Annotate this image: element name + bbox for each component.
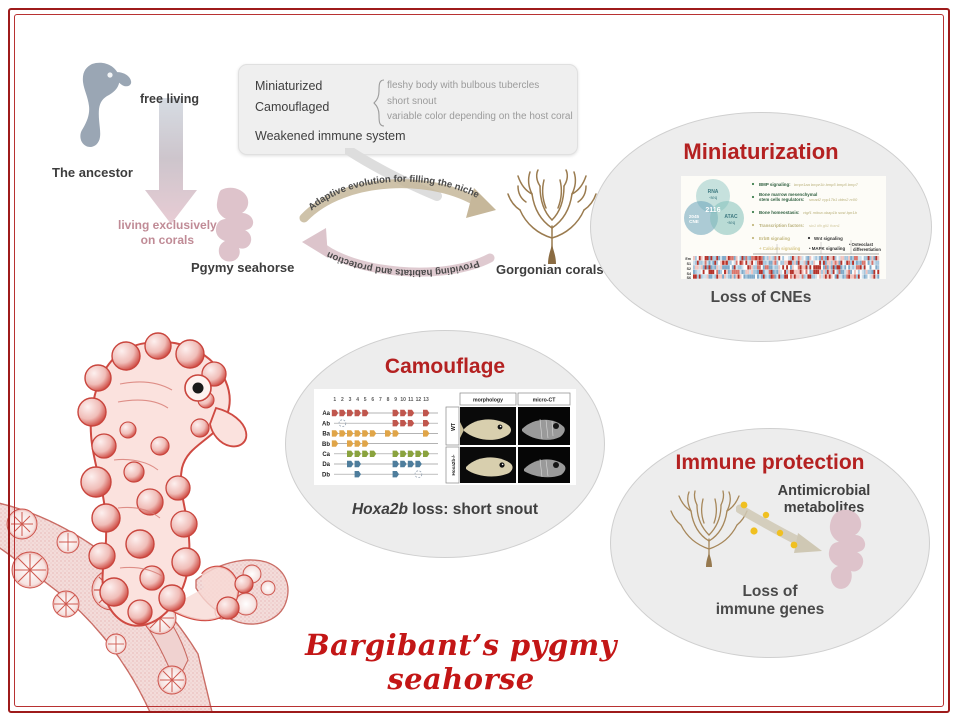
svg-text:Transcription factors:: Transcription factors: — [759, 223, 805, 228]
antimicrobial-line1: Antimicrobial — [731, 483, 917, 500]
metabolite-dot — [791, 542, 798, 549]
panel-camouflage-title: Camouflage — [286, 355, 604, 379]
svg-text:S6: S6 — [687, 276, 691, 279]
svg-text:12: 12 — [416, 397, 422, 403]
svg-text:morphology: morphology — [473, 398, 503, 404]
gorgonian-corals-label: Gorgonian corals — [496, 262, 604, 277]
trait-detail-2: variable color depending on the host cor… — [387, 109, 573, 125]
svg-text:6: 6 — [371, 397, 374, 403]
hox-cluster-diagram: 13121110987654321AaAbBaBbCaDaDb — [322, 397, 438, 478]
panel-miniaturization[interactable]: Miniaturization RNA -seq 2045 CNE ATAC -… — [590, 112, 932, 342]
svg-text:ErbB signaling: ErbB signaling — [759, 236, 790, 241]
svg-text:13: 13 — [423, 397, 429, 403]
svg-text:Ab: Ab — [322, 421, 330, 427]
svg-text:11: 11 — [408, 397, 414, 403]
pygmy-seahorse-silhouette-icon — [197, 185, 267, 263]
svg-text:3: 3 — [349, 397, 352, 403]
svg-text:Providing habitats and protect: Providing habitats and protection — [325, 249, 481, 278]
pygmy-seahorse-label: Pgymy seahorse — [191, 260, 294, 275]
svg-text:Ca: Ca — [322, 452, 330, 458]
enriched-pathway-bullets: BMP signaling: bmpr1aa bmpr1b bmp5 bmp6 … — [752, 182, 881, 254]
pygmy-seahorse-body — [78, 333, 253, 626]
panel-miniaturization-caption: Loss of CNEs — [591, 289, 931, 307]
cne-venn-diagram: RNA -seq 2045 CNE ATAC -seq 2116 — [684, 179, 744, 235]
panel-camouflage-caption: Hoxa2b loss: short snout — [286, 501, 604, 519]
hoxa2b-gene-name: Hoxa2b — [352, 501, 408, 518]
svg-text:smad2 cyp17b1 ddrx2 rc00: smad2 cyp17b1 ddrx2 rc00 — [809, 197, 858, 202]
svg-text:+ Calcium signaling: + Calcium signaling — [759, 246, 801, 251]
svg-text:ctgf1 mitoa ubap1b sost bpr1b: ctgf1 mitoa ubap1b sost bpr1b — [803, 210, 858, 215]
pygmy-seahorse-icon — [817, 507, 875, 591]
trait-details: fleshy body with bulbous tubercles short… — [387, 78, 573, 125]
panel-immune-caption: Loss of immune genes — [611, 583, 929, 619]
trait-camouflaged: Camouflaged — [255, 97, 329, 118]
svg-text:Bb: Bb — [322, 442, 330, 448]
panel-miniaturization-title: Miniaturization — [591, 139, 931, 165]
adaptive-evolution-cycle: Adaptive evolution for filling the niche… — [288, 168, 520, 278]
panel-camouflage[interactable]: Camouflage 13121110987654321AaAbBaBbCaDa… — [285, 330, 605, 558]
ancestor-label: The ancestor — [52, 165, 133, 180]
ancestor-seahorse-silhouette-icon — [62, 58, 134, 150]
svg-text:4: 4 — [356, 397, 359, 403]
svg-text:-seq: -seq — [709, 195, 718, 200]
trait-detail-1: short snout — [387, 94, 573, 110]
svg-text:• MAPK signaling: • MAPK signaling — [809, 246, 845, 251]
trait-summary-box: Miniaturized Camouflaged fleshy body wit… — [238, 64, 578, 155]
svg-text:Aa: Aa — [322, 411, 330, 417]
svg-text:2: 2 — [341, 397, 344, 403]
svg-text:bmpr1aa bmpr1b bmp5 bmp6 bmp7: bmpr1aa bmpr1b bmp5 bmp6 bmp7 — [794, 182, 859, 187]
svg-text:six1 tfb gli1 foxn1: six1 tfb gli1 foxn1 — [809, 223, 840, 228]
free-living-label: free living — [140, 92, 199, 106]
trait-detail-0: fleshy body with bulbous tubercles — [387, 78, 573, 94]
camouflage-figure: 13121110987654321AaAbBaBbCaDaDb morpholo… — [314, 389, 576, 485]
svg-text:Bone homeostasis:: Bone homeostasis: — [759, 210, 800, 215]
expression-heatmap: Em S1 S2 S4 S6 — [685, 256, 879, 279]
seahorse-eye — [185, 375, 211, 401]
hoxa2b-caption-rest: loss: short snout — [408, 501, 538, 518]
panel-immune-protection[interactable]: Immune protection — [610, 428, 930, 658]
trait-miniaturized: Miniaturized — [255, 76, 329, 97]
svg-text:CNE: CNE — [689, 219, 699, 224]
svg-text:1: 1 — [333, 397, 336, 403]
svg-text:S1: S1 — [687, 262, 691, 266]
svg-text:Db: Db — [322, 472, 330, 478]
svg-text:Em: Em — [685, 257, 691, 261]
panel-immune-title: Immune protection — [611, 451, 929, 475]
gorgonian-coral-tree-icon — [500, 168, 605, 264]
svg-text:Ba: Ba — [322, 432, 330, 438]
svg-text:Da: Da — [322, 462, 330, 468]
svg-text:-seq: -seq — [727, 220, 736, 225]
svg-text:BMP signaling:: BMP signaling: — [759, 182, 791, 187]
miniaturization-figure: RNA -seq 2045 CNE ATAC -seq 2116 BMP sig… — [681, 176, 886, 279]
svg-text:micro-CT: micro-CT — [533, 398, 557, 404]
svg-text:9: 9 — [394, 397, 397, 403]
svg-text:2116: 2116 — [705, 207, 720, 214]
providing-habitats-label: Providing habitats and protection — [325, 249, 481, 278]
svg-text:differentiation: differentiation — [853, 247, 881, 252]
immune-caption-line1: Loss of — [611, 583, 929, 601]
fish-phenotype-panels: morphology micro-CT WT Hoxa2b-/- — [446, 393, 570, 483]
graphical-abstract-page: The ancestor free living living exclusiv… — [0, 0, 958, 721]
svg-text:7: 7 — [379, 397, 382, 403]
metabolite-dot — [777, 530, 783, 536]
trait-weakened-immune: Weakened immune system — [255, 129, 406, 143]
svg-text:Wnt signaling: Wnt signaling — [814, 236, 843, 241]
immune-caption-line2: immune genes — [611, 601, 929, 619]
trait-list: Miniaturized Camouflaged — [255, 76, 329, 118]
metabolite-dot — [750, 527, 757, 534]
svg-text:10: 10 — [400, 397, 406, 403]
svg-text:Hoxa2b-/-: Hoxa2b-/- — [451, 454, 456, 475]
svg-text:stem cells regulators:: stem cells regulators: — [759, 197, 805, 202]
svg-text:8: 8 — [387, 397, 390, 403]
svg-text:5: 5 — [364, 397, 367, 403]
curly-brace-icon — [373, 79, 385, 127]
main-title: Bargibant’s pygmy seahorse — [236, 628, 686, 696]
svg-text:WT: WT — [451, 423, 457, 431]
free-living-arrow — [143, 98, 199, 226]
svg-text:S2: S2 — [687, 267, 691, 271]
